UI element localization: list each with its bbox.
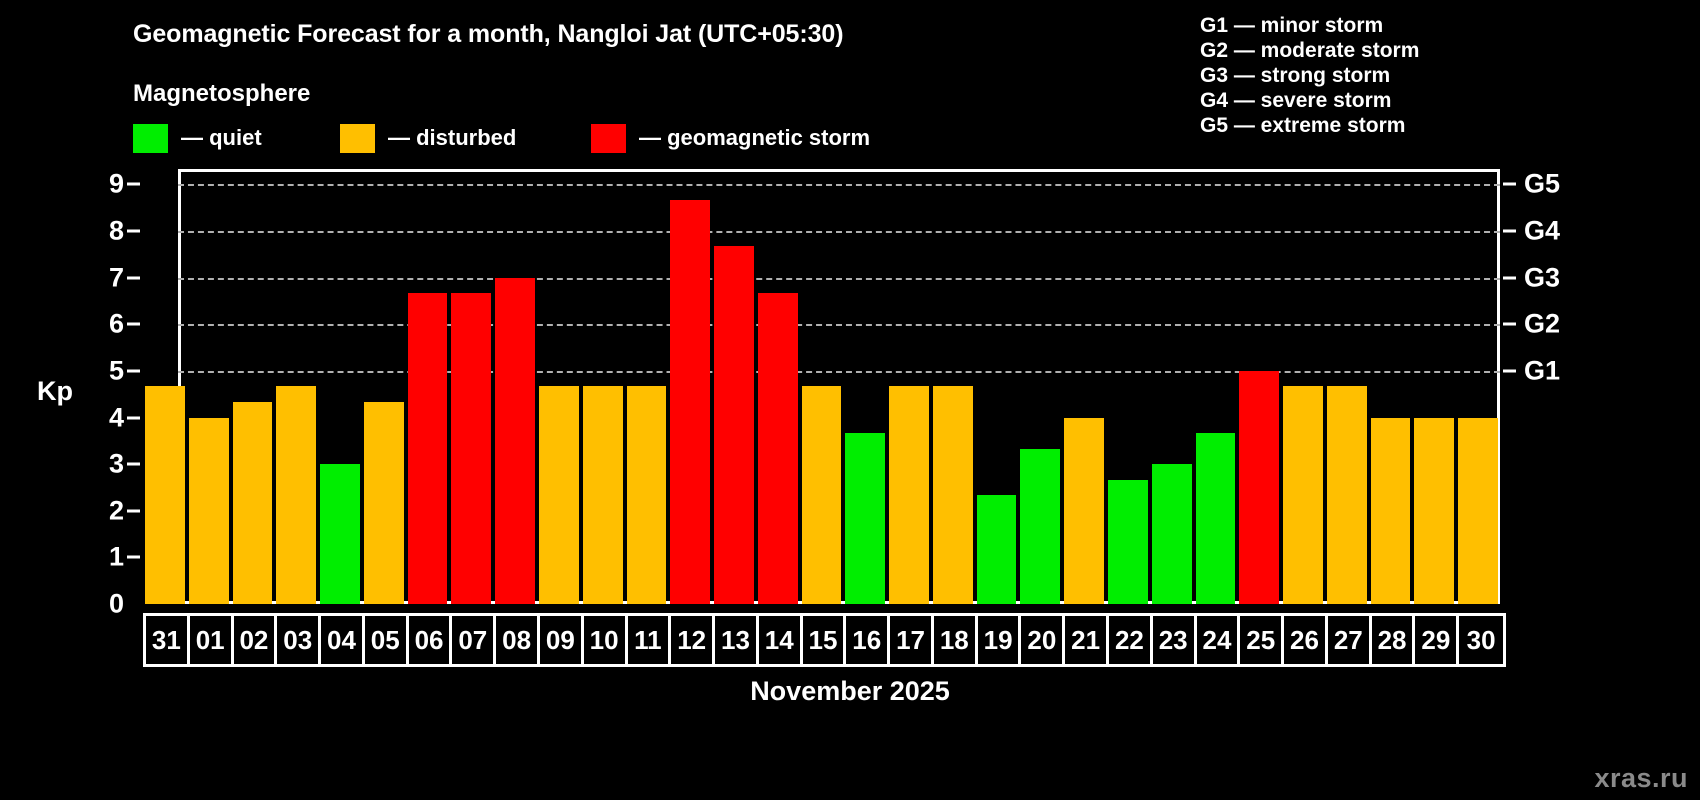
g-axis: G1G2G3G4G5 bbox=[1500, 169, 1700, 604]
date-cell-06[interactable]: 06 bbox=[409, 616, 453, 664]
legend-label-disturbed: — disturbed bbox=[388, 125, 516, 151]
date-cell-15[interactable]: 15 bbox=[803, 616, 847, 664]
page-title: Geomagnetic Forecast for a month, Nanglo… bbox=[133, 20, 843, 49]
date-cell-13[interactable]: 13 bbox=[715, 616, 759, 664]
date-cell-14[interactable]: 14 bbox=[759, 616, 803, 664]
bar-day-25[interactable] bbox=[1239, 371, 1279, 604]
bar-day-07[interactable] bbox=[451, 293, 491, 604]
gscale-legend: G1 — minor stormG2 — moderate stormG3 — … bbox=[1200, 13, 1530, 138]
bar-day-03[interactable] bbox=[276, 386, 316, 604]
date-cell-17[interactable]: 17 bbox=[890, 616, 934, 664]
bar-day-12[interactable] bbox=[670, 200, 710, 604]
legend-swatch-quiet bbox=[133, 124, 168, 153]
y-tick-mark-8 bbox=[127, 230, 140, 233]
gscale-line-2: G2 — moderate storm bbox=[1200, 38, 1530, 63]
g-tick-mark-G2 bbox=[1503, 323, 1516, 326]
y-tick-label-7: 7 bbox=[109, 262, 124, 293]
y-tick-label-1: 1 bbox=[109, 542, 124, 573]
date-cell-07[interactable]: 07 bbox=[452, 616, 496, 664]
date-cell-26[interactable]: 26 bbox=[1284, 616, 1328, 664]
g-tick-label-G5: G5 bbox=[1524, 169, 1560, 200]
bar-day-02[interactable] bbox=[233, 402, 273, 604]
y-tick-mark-5 bbox=[127, 369, 140, 372]
y-tick-label-6: 6 bbox=[109, 309, 124, 340]
date-cell-16[interactable]: 16 bbox=[846, 616, 890, 664]
bar-day-18[interactable] bbox=[933, 386, 973, 604]
date-cell-23[interactable]: 23 bbox=[1153, 616, 1197, 664]
legend-item-storm: — geomagnetic storm bbox=[591, 122, 870, 154]
gscale-line-3: G3 — strong storm bbox=[1200, 63, 1530, 88]
g-tick-label-G2: G2 bbox=[1524, 309, 1560, 340]
legend-label-storm: — geomagnetic storm bbox=[639, 125, 870, 151]
legend-item-quiet: — quiet bbox=[133, 122, 262, 154]
bar-day-29[interactable] bbox=[1414, 418, 1454, 604]
date-cell-31[interactable]: 31 bbox=[146, 616, 190, 664]
y-tick-label-2: 2 bbox=[109, 495, 124, 526]
date-cell-25[interactable]: 25 bbox=[1240, 616, 1284, 664]
g-tick-label-G1: G1 bbox=[1524, 355, 1560, 386]
date-cell-02[interactable]: 02 bbox=[234, 616, 278, 664]
date-cell-30[interactable]: 30 bbox=[1459, 616, 1503, 664]
bar-day-15[interactable] bbox=[802, 386, 842, 604]
bar-day-01[interactable] bbox=[189, 418, 229, 604]
y-tick-mark-6 bbox=[127, 323, 140, 326]
y-tick-label-9: 9 bbox=[109, 169, 124, 200]
bar-day-21[interactable] bbox=[1064, 418, 1104, 604]
date-axis: 3101020304050607080910111213141516171819… bbox=[143, 613, 1506, 667]
gscale-line-4: G4 — severe storm bbox=[1200, 88, 1530, 113]
date-cell-12[interactable]: 12 bbox=[671, 616, 715, 664]
bar-day-20[interactable] bbox=[1020, 449, 1060, 604]
date-cell-28[interactable]: 28 bbox=[1372, 616, 1416, 664]
bar-day-24[interactable] bbox=[1196, 433, 1236, 604]
date-cell-08[interactable]: 08 bbox=[496, 616, 540, 664]
bar-day-31[interactable] bbox=[145, 386, 185, 604]
bar-day-13[interactable] bbox=[714, 246, 754, 604]
bar-day-17[interactable] bbox=[889, 386, 929, 604]
date-cell-10[interactable]: 10 bbox=[584, 616, 628, 664]
g-tick-label-G4: G4 bbox=[1524, 216, 1560, 247]
bar-day-04[interactable] bbox=[320, 464, 360, 604]
x-axis-title: November 2025 bbox=[0, 676, 1700, 707]
date-cell-04[interactable]: 04 bbox=[321, 616, 365, 664]
y-tick-label-3: 3 bbox=[109, 449, 124, 480]
y-tick-label-8: 8 bbox=[109, 216, 124, 247]
bar-day-09[interactable] bbox=[539, 386, 579, 604]
chart-container: Geomagnetic Forecast for a month, Nanglo… bbox=[0, 0, 1700, 800]
date-cell-21[interactable]: 21 bbox=[1065, 616, 1109, 664]
y-tick-mark-3 bbox=[127, 463, 140, 466]
bar-day-22[interactable] bbox=[1108, 480, 1148, 604]
legend-swatch-disturbed bbox=[340, 124, 375, 153]
date-cell-11[interactable]: 11 bbox=[628, 616, 672, 664]
bar-day-08[interactable] bbox=[495, 278, 535, 604]
legend-swatch-storm bbox=[591, 124, 626, 153]
date-cell-22[interactable]: 22 bbox=[1109, 616, 1153, 664]
bar-day-06[interactable] bbox=[408, 293, 448, 604]
g-tick-label-G3: G3 bbox=[1524, 262, 1560, 293]
y-tick-mark-9 bbox=[127, 183, 140, 186]
y-tick-mark-2 bbox=[127, 509, 140, 512]
legend-item-disturbed: — disturbed bbox=[340, 122, 516, 154]
y-tick-mark-4 bbox=[127, 416, 140, 419]
bar-day-27[interactable] bbox=[1327, 386, 1367, 604]
y-axis-title: Kp bbox=[37, 376, 73, 407]
bar-day-23[interactable] bbox=[1152, 464, 1192, 604]
date-cell-24[interactable]: 24 bbox=[1197, 616, 1241, 664]
bar-day-26[interactable] bbox=[1283, 386, 1323, 604]
gscale-line-1: G1 — minor storm bbox=[1200, 13, 1530, 38]
bars-layer bbox=[143, 169, 1500, 604]
date-cell-27[interactable]: 27 bbox=[1328, 616, 1372, 664]
bar-day-16[interactable] bbox=[845, 433, 885, 604]
date-cell-20[interactable]: 20 bbox=[1021, 616, 1065, 664]
g-tick-mark-G4 bbox=[1503, 230, 1516, 233]
date-cell-01[interactable]: 01 bbox=[190, 616, 234, 664]
date-cell-03[interactable]: 03 bbox=[277, 616, 321, 664]
y-tick-mark-7 bbox=[127, 276, 140, 279]
date-cell-05[interactable]: 05 bbox=[365, 616, 409, 664]
g-tick-mark-G5 bbox=[1503, 183, 1516, 186]
date-cell-19[interactable]: 19 bbox=[978, 616, 1022, 664]
legend-label-quiet: — quiet bbox=[181, 125, 262, 151]
date-cell-09[interactable]: 09 bbox=[540, 616, 584, 664]
bar-day-05[interactable] bbox=[364, 402, 404, 604]
bar-day-10[interactable] bbox=[583, 386, 623, 604]
magnetosphere-heading: Magnetosphere bbox=[133, 80, 310, 108]
y-tick-label-0: 0 bbox=[109, 589, 124, 620]
g-tick-mark-G3 bbox=[1503, 276, 1516, 279]
y-tick-mark-1 bbox=[127, 556, 140, 559]
bar-day-19[interactable] bbox=[977, 495, 1017, 604]
g-tick-mark-G1 bbox=[1503, 369, 1516, 372]
y-tick-label-5: 5 bbox=[109, 355, 124, 386]
bar-day-28[interactable] bbox=[1371, 418, 1411, 604]
watermark: xras.ru bbox=[1594, 763, 1688, 794]
gscale-line-5: G5 — extreme storm bbox=[1200, 113, 1530, 138]
y-tick-label-4: 4 bbox=[109, 402, 124, 433]
bar-day-11[interactable] bbox=[627, 386, 667, 604]
date-cell-18[interactable]: 18 bbox=[934, 616, 978, 664]
date-cell-29[interactable]: 29 bbox=[1415, 616, 1459, 664]
bar-day-14[interactable] bbox=[758, 293, 798, 604]
bar-day-30[interactable] bbox=[1458, 418, 1498, 604]
